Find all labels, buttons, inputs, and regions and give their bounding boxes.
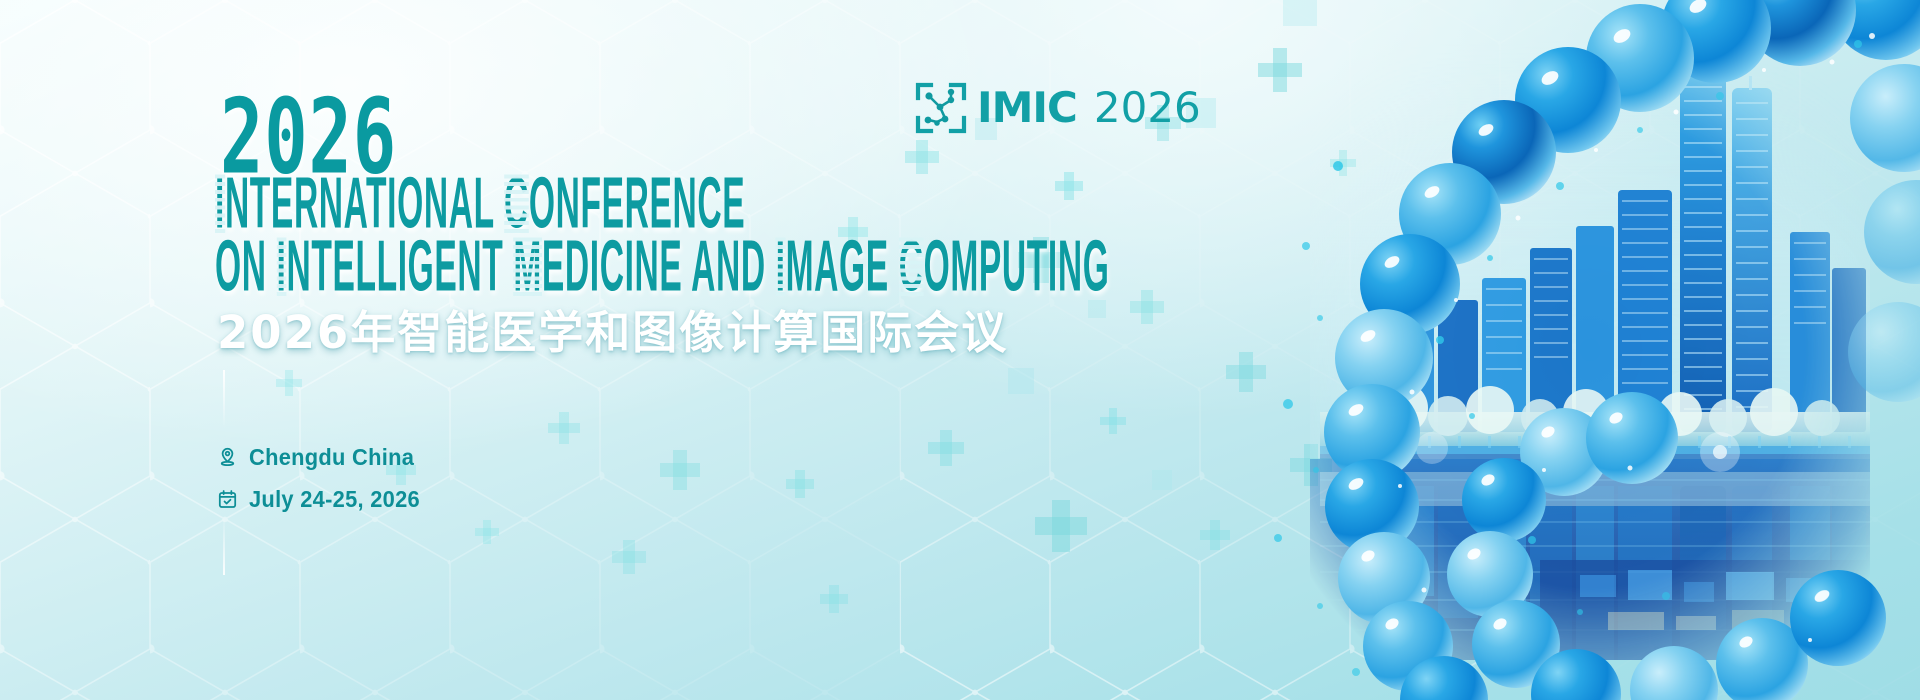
location-label: Chengdu China [249,444,414,471]
event-location: Chengdu China [216,440,429,474]
title-text: ON [215,224,277,306]
title-initial-cap: I [277,230,287,303]
imic-circuit-mark-icon [915,82,967,134]
title-text: NTELLIGENT [286,224,513,306]
decor-tick [223,370,225,428]
conference-title-line-1: INTERNATIONAL CONFERENCE [215,175,1099,231]
imic-logo: IMIC 2026 [915,82,1201,134]
title-initial-cap: M [513,230,542,303]
logo-year: 2026 [1094,87,1201,129]
location-pin-icon [216,445,238,469]
event-meta: Chengdu China July 24-25, 2026 [216,440,429,524]
title-text: MAGE [786,224,899,306]
event-date: July 24-25, 2026 [216,482,429,516]
date-label: July 24-25, 2026 [249,486,420,513]
title-initial-cap: C [899,230,924,303]
conference-title-line-2: ON INTELLIGENT MEDICINE AND IMAGE COMPUT… [215,238,1706,294]
decor-tick [223,515,225,575]
calendar-check-icon [216,487,238,511]
conference-subtitle-cn: 2026年智能医学和图像计算国际会议 [217,296,1008,361]
title-initial-cap: I [776,230,786,303]
title-text: OMPUTING [924,224,1110,306]
title-text: EDICINE AND [542,224,776,306]
conference-banner: 2026 INTERNATIONAL CONFERENCE ON INTELLI… [0,0,1920,700]
logo-acronym: IMIC [977,87,1077,129]
